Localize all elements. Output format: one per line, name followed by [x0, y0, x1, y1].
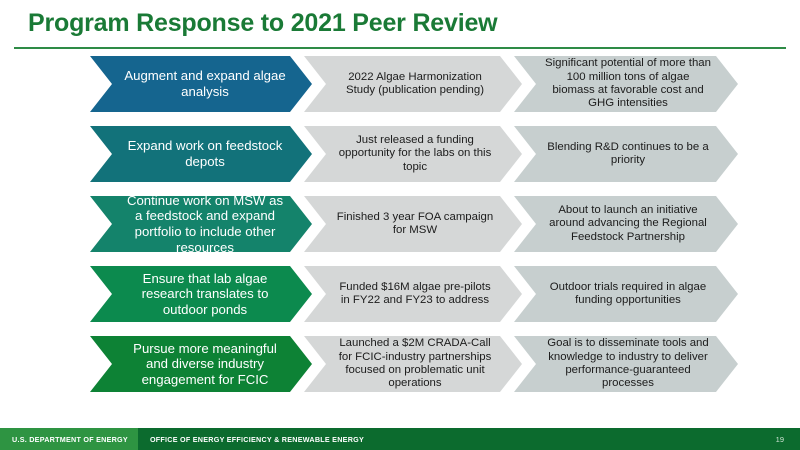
outcome-chevron[interactable]: About to launch an initiative around adv…: [514, 196, 738, 252]
action-chevron[interactable]: Expand work on feedstock depots: [90, 126, 312, 182]
outcome-label: About to launch an initiative around adv…: [544, 204, 712, 244]
action-label: Pursue more meaningful and diverse indus…: [124, 341, 286, 388]
slide-number: 19: [776, 435, 800, 444]
outcome-label: Outdoor trials required in algae funding…: [544, 281, 712, 308]
action-label: Ensure that lab algae research translate…: [124, 271, 286, 318]
status-chevron[interactable]: 2022 Algae Harmonization Study (publicat…: [304, 56, 522, 112]
outcome-chevron[interactable]: Outdoor trials required in algae funding…: [514, 266, 738, 322]
action-chevron[interactable]: Ensure that lab algae research translate…: [90, 266, 312, 322]
status-chevron[interactable]: Finished 3 year FOA campaign for MSW: [304, 196, 522, 252]
status-chevron[interactable]: Launched a $2M CRADA-Call for FCIC-indus…: [304, 336, 522, 392]
chevron-row: Ensure that lab algae research translate…: [0, 266, 800, 322]
status-chevron[interactable]: Just released a funding opportunity for …: [304, 126, 522, 182]
action-chevron[interactable]: Pursue more meaningful and diverse indus…: [90, 336, 312, 392]
status-chevron[interactable]: Funded $16M algae pre-pilots in FY22 and…: [304, 266, 522, 322]
chevron-row: Pursue more meaningful and diverse indus…: [0, 336, 800, 392]
outcome-chevron[interactable]: Blending R&D continues to be a priority: [514, 126, 738, 182]
action-chevron[interactable]: Augment and expand algae analysis: [90, 56, 312, 112]
status-label: Launched a $2M CRADA-Call for FCIC-indus…: [334, 337, 496, 391]
outcome-label: Goal is to disseminate tools and knowled…: [544, 337, 712, 391]
page-title: Program Response to 2021 Peer Review: [28, 9, 497, 38]
footer-department: U.S. DEPARTMENT OF ENERGY: [0, 428, 138, 450]
chevron-rows: Augment and expand algae analysis 2022 A…: [0, 56, 800, 406]
status-label: Just released a funding opportunity for …: [334, 134, 496, 174]
outcome-chevron[interactable]: Goal is to disseminate tools and knowled…: [514, 336, 738, 392]
footer-bar: U.S. DEPARTMENT OF ENERGY OFFICE OF ENER…: [0, 428, 800, 450]
chevron-row: Augment and expand algae analysis 2022 A…: [0, 56, 800, 112]
chevron-row: Expand work on feedstock depots Just rel…: [0, 126, 800, 182]
status-label: Funded $16M algae pre-pilots in FY22 and…: [334, 281, 496, 308]
action-label: Expand work on feedstock depots: [124, 138, 286, 169]
chevron-row: Continue work on MSW as a feedstock and …: [0, 196, 800, 252]
outcome-label: Blending R&D continues to be a priority: [544, 141, 712, 168]
status-label: Finished 3 year FOA campaign for MSW: [334, 211, 496, 238]
outcome-label: Significant potential of more than 100 m…: [544, 57, 712, 111]
footer-office: OFFICE OF ENERGY EFFICIENCY & RENEWABLE …: [138, 435, 364, 444]
action-chevron[interactable]: Continue work on MSW as a feedstock and …: [90, 196, 312, 252]
outcome-chevron[interactable]: Significant potential of more than 100 m…: [514, 56, 738, 112]
title-divider: [14, 47, 786, 49]
action-label: Continue work on MSW as a feedstock and …: [124, 193, 286, 255]
action-label: Augment and expand algae analysis: [124, 68, 286, 99]
status-label: 2022 Algae Harmonization Study (publicat…: [334, 71, 496, 98]
